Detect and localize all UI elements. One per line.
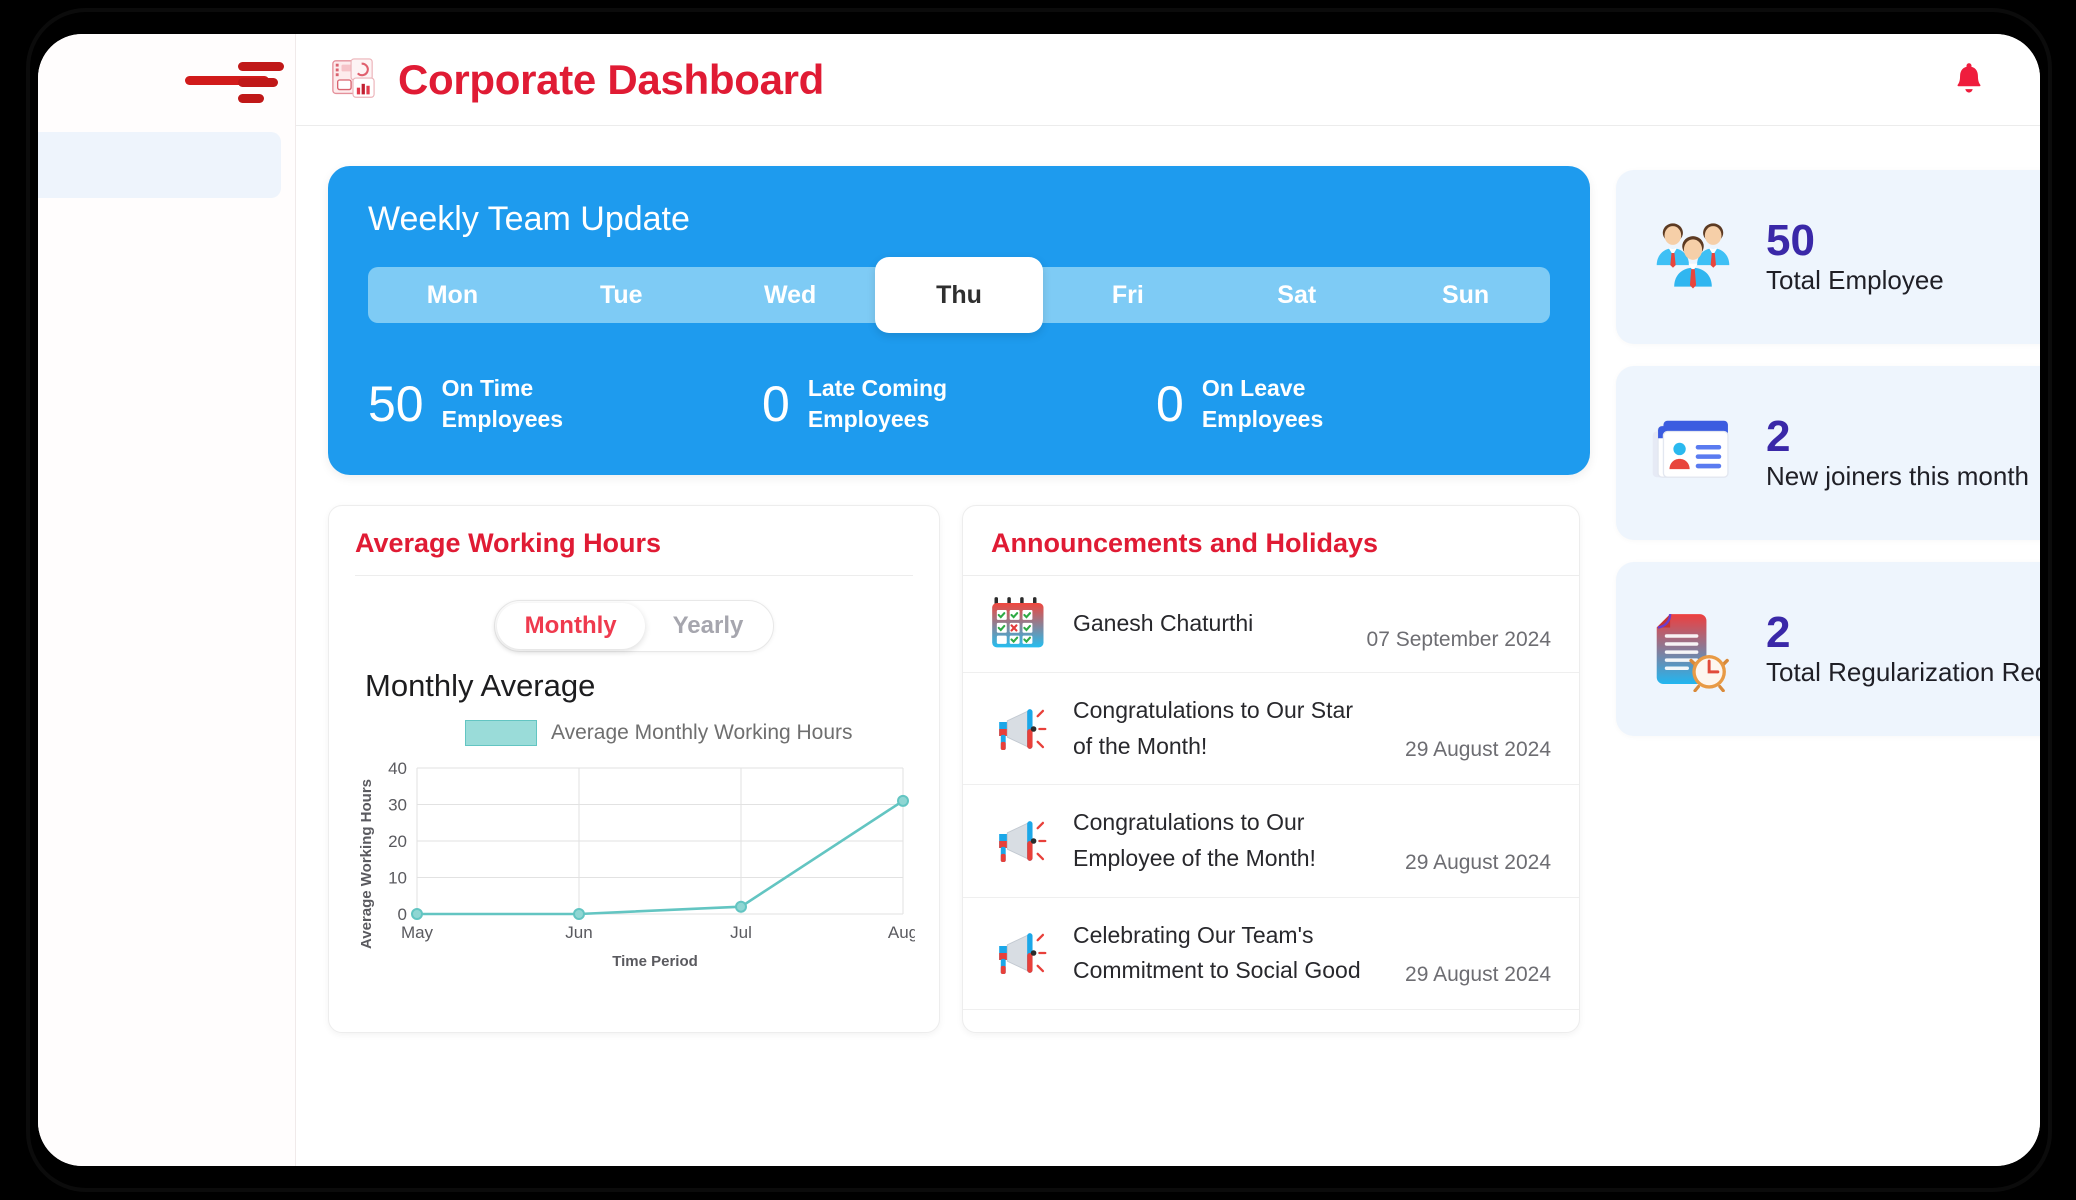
- metric-label: On Time Employees: [442, 373, 563, 435]
- stat-cards-column: 50 Total Employee 2: [1616, 166, 2040, 1166]
- chart-svg: 010203040 MayJunJulAug Average Working H…: [355, 754, 915, 972]
- sidebar-item-partial-1[interactable]: s: [38, 1000, 281, 1066]
- metric-late-coming: 0 Late Coming Employees: [762, 373, 1156, 435]
- weekly-team-update-card: Weekly Team Update Mon Tue Wed Thu Fri S…: [328, 166, 1590, 475]
- metric-label: Late Coming Employees: [808, 373, 947, 435]
- hamburger-bar: [238, 78, 278, 87]
- day-tab-label: Tue: [600, 281, 643, 310]
- day-tab-label: Fri: [1112, 281, 1144, 310]
- metric-on-time: 50 On Time Employees: [368, 373, 762, 435]
- average-working-hours-panel: Average Working Hours Monthly Yearly Mon…: [328, 505, 940, 1033]
- hamburger-icon[interactable]: [238, 62, 284, 103]
- hamburger-bar: [238, 62, 284, 71]
- chart-data-point: [412, 909, 422, 919]
- metric-label-line1: On Leave: [1202, 373, 1323, 404]
- stat-text-group: 50 Total Employee: [1766, 218, 1944, 295]
- announcement-line2: of the Month!: [1073, 729, 1405, 765]
- toggle-monthly[interactable]: Monthly: [497, 603, 645, 649]
- metric-on-leave: 0 On Leave Employees: [1156, 373, 1550, 435]
- page-title: Corporate Dashboard: [398, 56, 824, 104]
- stat-value: 2: [1766, 610, 2040, 656]
- toggle-yearly[interactable]: Yearly: [645, 603, 772, 649]
- day-tab-label: Thu: [936, 281, 982, 310]
- chart-x-tick: Aug: [888, 923, 915, 942]
- metric-label-line2: Employees: [442, 404, 563, 435]
- working-hours-chart: Average Monthly Working Hours 010203040 …: [355, 720, 915, 970]
- chart-y-axis-label: Average Working Hours: [358, 779, 375, 949]
- hamburger-bar: [238, 94, 264, 103]
- metric-label: On Leave Employees: [1202, 373, 1323, 435]
- chart-x-tick: Jun: [565, 923, 592, 942]
- weekly-card-title: Weekly Team Update: [368, 200, 1550, 239]
- sidebar: Dashboard s nt: [38, 34, 296, 1166]
- day-tab-fri[interactable]: Fri: [1043, 267, 1212, 323]
- id-card-icon: [1650, 410, 1736, 496]
- announcement-date: 29 August 2024: [1405, 738, 1551, 762]
- announcement-text: Ganesh Chaturthi: [1073, 606, 1367, 642]
- stat-card-new-joiners[interactable]: 2 New joiners this month: [1616, 366, 2040, 540]
- announcement-date: 29 August 2024: [1405, 963, 1551, 987]
- announcement-text: Celebrating Our Team's Commitment to Soc…: [1073, 918, 1405, 989]
- announcement-date: 29 August 2024: [1405, 851, 1551, 875]
- chart-x-tick: May: [401, 923, 434, 942]
- day-tab-wed[interactable]: Wed: [706, 267, 875, 323]
- panel-title: Announcements and Holidays: [963, 528, 1579, 575]
- chart-y-tick: 0: [398, 905, 407, 924]
- top-bar: Corporate Dashboard: [296, 34, 2040, 126]
- metric-label-line1: On Time: [442, 373, 563, 404]
- chart-data-point: [898, 796, 908, 806]
- metric-label-line2: Employees: [1202, 404, 1323, 435]
- dashboard-analytics-icon: [330, 57, 376, 103]
- announcement-date: 07 September 2024: [1367, 628, 1551, 652]
- day-tab-tue[interactable]: Tue: [537, 267, 706, 323]
- chart-y-tick: 20: [388, 832, 407, 851]
- megaphone-icon: [991, 813, 1047, 869]
- announcements-list: Ganesh Chaturthi 07 September 2024: [963, 576, 1579, 1010]
- stat-text-group: 2 New joiners this month: [1766, 414, 2029, 491]
- announcements-panel: Announcements and Holidays: [962, 505, 1580, 1033]
- stat-value: 50: [1766, 218, 1944, 264]
- day-tab-label: Mon: [427, 281, 478, 310]
- megaphone-icon: [991, 701, 1047, 757]
- metric-value: 0: [1156, 379, 1184, 429]
- day-tab-sat[interactable]: Sat: [1212, 267, 1381, 323]
- announcement-line2: Employee of the Month!: [1073, 841, 1405, 877]
- panel-title: Average Working Hours: [355, 528, 913, 575]
- announcement-line1: Congratulations to Our: [1073, 805, 1405, 841]
- main-content: Weekly Team Update Mon Tue Wed Thu Fri S…: [296, 126, 2040, 1166]
- chart-y-tick: 10: [388, 869, 407, 888]
- legend-swatch: [465, 720, 537, 746]
- document-clock-icon: [1650, 606, 1736, 692]
- left-column: Weekly Team Update Mon Tue Wed Thu Fri S…: [328, 166, 1590, 1166]
- announcement-line1: Ganesh Chaturthi: [1073, 606, 1367, 642]
- chart-x-axis-label: Time Period: [612, 953, 698, 970]
- calendar-icon: [991, 596, 1047, 652]
- chart-data-point: [574, 909, 584, 919]
- stat-label: Total Employee: [1766, 265, 1944, 296]
- chart-y-tick: 30: [388, 796, 407, 815]
- day-selector: Mon Tue Wed Thu Fri Sat Sun: [368, 267, 1550, 323]
- team-people-icon: [1650, 214, 1736, 300]
- announcement-text: Congratulations to Our Star of the Month…: [1073, 693, 1405, 764]
- stat-label: New joiners this month: [1766, 461, 2029, 492]
- list-item[interactable]: Congratulations to Our Employee of the M…: [963, 785, 1579, 897]
- stat-card-total-employee[interactable]: 50 Total Employee: [1616, 170, 2040, 344]
- stat-card-regularization-requests[interactable]: 2 Total Regularization Requests: [1616, 562, 2040, 736]
- period-toggle: Monthly Yearly: [494, 600, 775, 652]
- sidebar-bottom-group: s nt: [38, 994, 295, 1144]
- panel-divider: [355, 575, 913, 576]
- chart-data-point: [736, 902, 746, 912]
- announcement-line2: Commitment to Social Good: [1073, 953, 1405, 989]
- device-screen: Dashboard s nt: [38, 34, 2040, 1166]
- day-tab-thu[interactable]: Thu: [875, 257, 1044, 333]
- chart-y-tick-labels: 010203040: [388, 759, 407, 924]
- chart-data-points: [412, 796, 908, 919]
- panels-row: Average Working Hours Monthly Yearly Mon…: [328, 505, 1590, 1033]
- megaphone-icon: [991, 925, 1047, 981]
- chart-x-tick: Jul: [730, 923, 752, 942]
- chart-line-series: [417, 801, 903, 914]
- chart-heading: Monthly Average: [365, 668, 913, 704]
- metric-label-line1: Late Coming: [808, 373, 947, 404]
- stat-value: 2: [1766, 414, 2029, 460]
- sidebar-item-dashboard[interactable]: Dashboard: [38, 132, 281, 198]
- chart-gridlines: [417, 768, 903, 914]
- list-item[interactable]: Celebrating Our Team's Commitment to Soc…: [963, 898, 1579, 1010]
- metric-value: 50: [368, 379, 424, 429]
- day-tab-label: Sun: [1442, 281, 1489, 310]
- announcement-line1: Congratulations to Our Star: [1073, 693, 1405, 729]
- day-tab-mon[interactable]: Mon: [368, 267, 537, 323]
- list-item[interactable]: Ganesh Chaturthi 07 September 2024: [963, 576, 1579, 673]
- day-tab-sun[interactable]: Sun: [1381, 267, 1550, 323]
- list-item[interactable]: Congratulations to Our Star of the Month…: [963, 673, 1579, 785]
- day-tab-label: Wed: [764, 281, 816, 310]
- metric-label-line2: Employees: [808, 404, 947, 435]
- sidebar-item-partial-2[interactable]: nt: [38, 1072, 281, 1138]
- bell-icon[interactable]: [1952, 61, 1986, 99]
- legend-label: Average Monthly Working Hours: [551, 721, 853, 745]
- weekly-metrics: 50 On Time Employees 0 Late Coming Emplo…: [368, 357, 1550, 435]
- announcement-text: Congratulations to Our Employee of the M…: [1073, 805, 1405, 876]
- announcement-line1: Celebrating Our Team's: [1073, 918, 1405, 954]
- stat-label: Total Regularization Requests: [1766, 657, 2040, 688]
- chart-legend: Average Monthly Working Hours: [465, 720, 853, 746]
- metric-value: 0: [762, 379, 790, 429]
- device-frame: Dashboard s nt: [30, 12, 2048, 1188]
- stat-text-group: 2 Total Regularization Requests: [1766, 610, 2040, 687]
- period-toggle-wrap: Monthly Yearly: [355, 600, 913, 652]
- chart-y-tick: 40: [388, 759, 407, 778]
- day-tab-label: Sat: [1277, 281, 1316, 310]
- chart-x-tick-labels: MayJunJulAug: [401, 923, 915, 942]
